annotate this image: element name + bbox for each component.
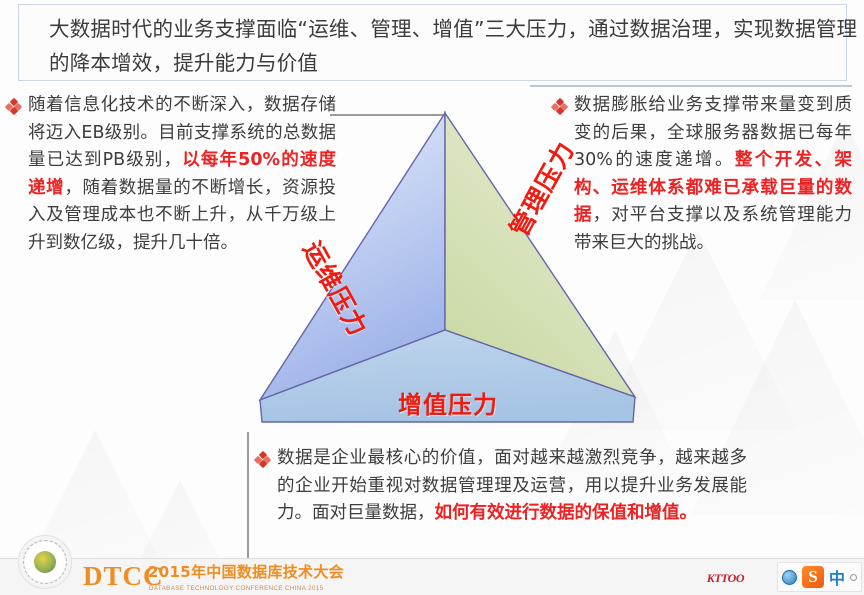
title-box: 大数据时代的业务支撑面临“运维、管理、增值”三大压力，通过数据治理，实现数据管理…: [18, 4, 847, 81]
bullet-text-left: 随着信息化技术的不断深入，数据存储将迈入EB级别。目前支撑系统的总数据量已达到P…: [28, 92, 336, 257]
bullet-block-right: 数据膨胀给业务支撑带来量变到质变的后果，全球服务器数据已每年30%的速度递增。整…: [552, 92, 852, 257]
bullet-text-right: 数据膨胀给业务支撑带来量变到质变的后果，全球服务器数据已每年30%的速度递增。整…: [574, 92, 852, 257]
bullet-text-bottom: 数据是企业最核心的价值，面对越来越激烈竞争，越来越多的企业开始重视对数据管理理及…: [277, 445, 747, 528]
conference-name-en: DATABASE TECHNOLOGY CONFERENCE CHINA 201…: [149, 585, 323, 592]
sogou-logo-icon[interactable]: S: [802, 566, 824, 588]
diamond-bullet-icon: [552, 99, 567, 114]
slide-canvas: 大数据时代的业务支撑面临“运维、管理、增值”三大压力，通过数据治理，实现数据管理…: [0, 0, 864, 595]
header-underline: [530, 85, 852, 87]
footer-bar: DTCC 2015年中国数据库技术大会 DATABASE TECHNOLOGY …: [0, 558, 864, 595]
conference-name-cn: 2015年中国数据库技术大会: [148, 561, 344, 582]
organization-seal: [18, 535, 72, 589]
ime-mode-indicator[interactable]: 中: [829, 565, 845, 589]
bullet-block-bottom: 数据是企业最核心的价值，面对越来越激烈竞争，越来越多的企业开始重视对数据管理理及…: [255, 445, 747, 528]
page-title: 大数据时代的业务支撑面临“运维、管理、增值”三大压力，通过数据治理，实现数据管理…: [49, 12, 864, 80]
bullet-block-left: 随着信息化技术的不断深入，数据存储将迈入EB级别。目前支撑系统的总数据量已达到P…: [6, 92, 336, 257]
ime-options-icon[interactable]: [850, 574, 857, 581]
ime-globe-icon[interactable]: [782, 570, 797, 585]
diamond-bullet-icon: [255, 452, 270, 467]
diamond-bullet-icon: [6, 99, 21, 114]
pyramid-label-bottom: 增值压力: [398, 385, 498, 420]
ime-toolbar[interactable]: S 中: [777, 562, 862, 592]
vendor-logo: KTTOO: [707, 571, 744, 586]
bottom-block-left-rule: [247, 432, 249, 562]
